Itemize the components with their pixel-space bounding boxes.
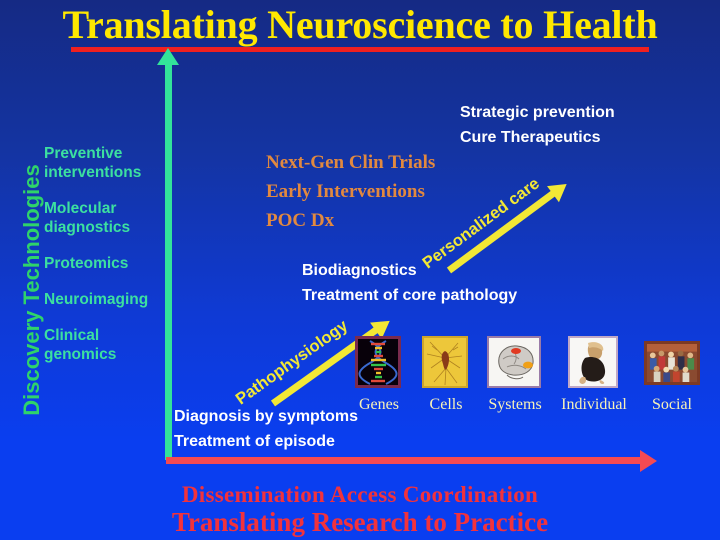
horizontal-axis-arrowhead-icon — [640, 450, 657, 472]
list-item: Proteomics — [44, 254, 166, 273]
clinical-translation-block: Next-Gen Clin Trials Early Interventions… — [266, 148, 435, 235]
clinical-line-3: POC Dx — [266, 206, 435, 235]
dna-helix-icon — [355, 336, 401, 388]
outcome-middle-line-1: Biodiagnostics — [302, 258, 517, 283]
page-title: Translating Neuroscience to Health — [0, 2, 720, 48]
outcome-bottom-line-2: Treatment of episode — [174, 429, 358, 454]
outcome-block-bottom: Diagnosis by symptoms Treatment of episo… — [174, 404, 358, 454]
horizontal-axis-line — [166, 457, 644, 464]
group-photo-icon — [644, 341, 700, 385]
outcome-middle-line-2: Treatment of core pathology — [302, 283, 517, 308]
outcome-bottom-line-1: Diagnosis by symptoms — [174, 404, 358, 429]
clinical-line-1: Next-Gen Clin Trials — [266, 148, 435, 177]
thumbnail-label: Cells — [415, 396, 477, 414]
discovery-technologies-list: Preventive interventions Molecular diagn… — [44, 144, 166, 381]
clinical-line-2: Early Interventions — [266, 177, 435, 206]
brain-scan-icon — [487, 336, 541, 388]
footer-caption-secondary: Translating Research to Practice — [0, 507, 720, 538]
thumbnail-label: Genes — [348, 396, 410, 414]
child-photo-icon — [568, 336, 618, 388]
outcome-top-line-1: Strategic prevention — [460, 100, 615, 125]
vertical-axis-caption: Discovery Technologies — [19, 135, 45, 445]
neuron-icon — [422, 336, 468, 388]
list-item: Preventive interventions — [44, 144, 166, 182]
list-item: Molecular diagnostics — [44, 199, 166, 237]
slide-canvas: Translating Neuroscience to Health Disco… — [0, 0, 720, 540]
thumbnail-label: Social — [640, 396, 704, 414]
thumbnail-label: Systems — [477, 396, 553, 414]
list-item: Clinical genomics — [44, 326, 166, 364]
vertical-axis-line — [165, 62, 172, 460]
list-item: Neuroimaging — [44, 290, 166, 309]
thumbnail-label: Individual — [556, 396, 632, 414]
outcome-top-line-2: Cure Therapeutics — [460, 125, 615, 150]
outcome-block-top: Strategic prevention Cure Therapeutics — [460, 100, 615, 150]
outcome-block-middle: Biodiagnostics Treatment of core patholo… — [302, 258, 517, 308]
footer-caption-primary: Dissemination Access Coordination — [0, 482, 720, 508]
